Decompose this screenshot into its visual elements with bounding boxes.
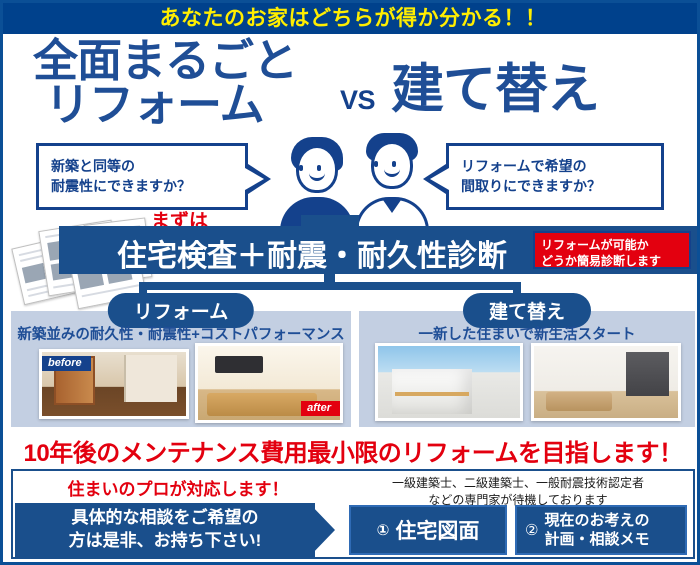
speech-bubble-right-line1: リフォームで希望の (461, 156, 649, 176)
speech-bubble-right-tail-inner (430, 168, 449, 190)
speech-bubble-left-line2: 耐震性にできますか？ (51, 176, 233, 196)
cta-left-message: 具体的な相談をご希望の 方は是非、お持ち下さい! (15, 503, 315, 557)
hero-left-line2: リフォーム (33, 83, 333, 127)
new-house-interior-image (534, 346, 678, 418)
before-photo: before (39, 349, 189, 419)
cta-item-2-line1: 現在のお考えの (544, 511, 649, 531)
panel-rebuild: 建て替え 一新した住まいで新生活スタート (359, 311, 695, 427)
cta-item-2-line2: 計画・相談メモ (544, 530, 649, 550)
cta-item-consultation-memo[interactable]: ② 現在のお考えの 計画・相談メモ (515, 505, 687, 555)
new-house-exterior-image (378, 346, 520, 418)
new-house-exterior-photo (375, 343, 523, 421)
diagnostic-banner: 住宅検査＋耐震・耐久性診断 リフォームが可能か どうか簡易診断します (59, 226, 697, 274)
hero-right-title: 建て替え (391, 63, 599, 116)
cta-item-1-label: 住宅図面 (395, 515, 479, 545)
cta-left-heading: 住まいのプロが対応します！ (13, 475, 343, 500)
man-eye-right-icon (392, 161, 396, 167)
woman-eye-right-icon (317, 165, 321, 171)
cta-item-house-plan[interactable]: ① 住宅図面 (349, 505, 507, 555)
cta-item-2-label: 現在のお考えの 計画・相談メモ (544, 511, 649, 550)
cta-specialist-note-line1: 一級建築士、二級建築士、一般耐震技術認定者 (349, 475, 687, 492)
top-banner-text: あなたのお家はどちらが得か分かる！！ (160, 2, 547, 32)
diagnostic-title: 住宅検査＋耐震・耐久性診断 (117, 231, 507, 275)
speech-bubble-right-line2: 間取りにできますか？ (461, 176, 649, 196)
cta-left-message-line1: 具体的な相談をご希望の (69, 507, 262, 530)
diagnostic-badge-line2: どうか簡易診断します (541, 253, 683, 269)
man-collar-icon (383, 200, 401, 213)
after-photo: after (195, 343, 343, 423)
maintenance-headline: 10年後のメンテナンス費用最小限のリフォームを目指します！ (3, 433, 700, 468)
speech-bubble-left-line1: 新築と同等の (51, 156, 233, 176)
hero-title-area: 全面まるごと リフォーム VS 建て替え (3, 37, 700, 142)
cta-left-message-line2: 方は是非、お持ち下さい! (69, 530, 262, 553)
speech-bubble-left-tail-inner (245, 168, 264, 190)
speech-bubble-left: 新築と同等の 耐震性にできますか？ (36, 143, 248, 210)
diagnostic-badge: リフォームが可能か どうか簡易診断します (533, 231, 691, 269)
vs-label: VS (340, 85, 375, 116)
cta-right-column: 一級建築士、二級建築士、一般耐震技術認定者 などの専門家が待機しております ① … (343, 471, 693, 557)
cta-specialist-note: 一級建築士、二級建築士、一般耐震技術認定者 などの専門家が待機しております (349, 475, 687, 509)
new-house-interior-photo (531, 343, 681, 421)
speech-bubble-right: リフォームで希望の 間取りにできますか？ (446, 143, 664, 210)
cta-section: 住まいのプロが対応します！ 具体的な相談をご希望の 方は是非、お持ち下さい! 一… (11, 469, 695, 559)
panel-reform-subtitle: 新築並みの耐久性・耐震性+コストパフォーマンス (11, 323, 351, 344)
panel-rebuild-subtitle: 一新した住まいで新生活スタート (359, 323, 695, 344)
hero-left-title: 全面まるごと リフォーム (33, 39, 333, 127)
panel-reform: リフォーム 新築並みの耐久性・耐震性+コストパフォーマンス before aft… (11, 311, 351, 427)
cta-item-1-number: ① (377, 521, 390, 539)
poster-root: あなたのお家はどちらが得か分かる！！ 全面まるごと リフォーム VS 建て替え (0, 0, 700, 565)
cta-arrow-icon (309, 503, 335, 557)
top-banner: あなたのお家はどちらが得か分かる！！ (0, 0, 700, 34)
after-badge: after (301, 401, 340, 416)
man-eye-left-icon (374, 161, 378, 167)
before-badge: before (42, 356, 91, 371)
cta-left-column: 住まいのプロが対応します！ 具体的な相談をご希望の 方は是非、お持ち下さい! (13, 471, 343, 557)
diagnostic-badge-line1: リフォームが可能か (541, 237, 683, 253)
connector-horizontal (139, 282, 521, 290)
cta-item-2-number: ② (525, 521, 538, 539)
woman-eye-left-icon (299, 165, 303, 171)
